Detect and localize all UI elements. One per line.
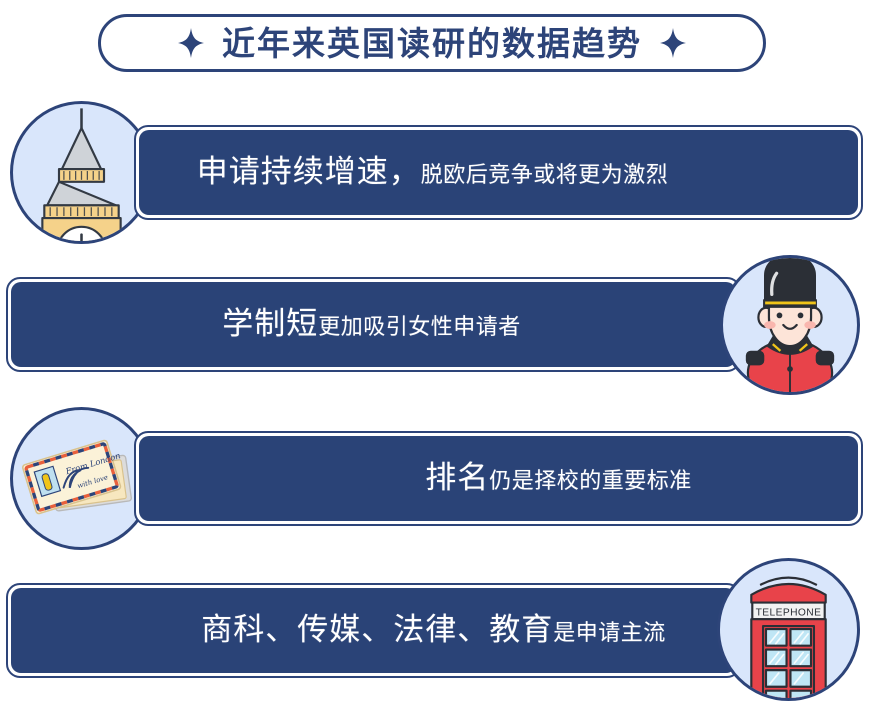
bar-applications: 申请持续增速， 脱欧后竞争或将更为激烈 (134, 125, 863, 220)
royal-guard-icon (720, 255, 860, 395)
big-ben-icon (10, 101, 153, 244)
bar-inner: 学制短 更加吸引女性申请者 (11, 282, 736, 367)
row-subline: 脱欧后竞争或将更为激烈 (421, 165, 669, 187)
row-headline: 排名 (425, 463, 489, 494)
airmail-letters-icon: From London with love (10, 407, 153, 550)
telephone-sign-text: TELEPHONE (756, 607, 822, 618)
bar-text: 排名 仍是择校的重要标准 (425, 463, 692, 494)
bar-inner: 申请持续增速， 脱欧后竞争或将更为激烈 (139, 130, 858, 215)
row-headline: 学制短 (222, 309, 318, 340)
bar-text: 商科、传媒、法律、教育 是申请主流 (201, 615, 666, 646)
sparkle-icon (660, 28, 686, 58)
row-subline: 仍是择校的重要标准 (489, 471, 692, 493)
row-subline: 更加吸引女性申请者 (318, 317, 521, 339)
bar-majors: 商科、传媒、法律、教育 是申请主流 (6, 583, 741, 678)
page-title: 近年来英国读研的数据趋势 (222, 27, 642, 60)
row-majors: 商科、传媒、法律、教育 是申请主流 (0, 556, 870, 699)
bar-text: 申请持续增速， 脱欧后竞争或将更为激烈 (197, 157, 669, 188)
bar-text: 学制短 更加吸引女性申请者 (222, 309, 521, 340)
infographic-root: 近年来英国读研的数据趋势 (0, 0, 870, 699)
bar-inner: 排名 仍是择校的重要标准 (139, 436, 858, 521)
row-headline: 商科、传媒、法律、教育 (201, 615, 553, 646)
bar-inner: 商科、传媒、法律、教育 是申请主流 (11, 588, 736, 673)
row-subline: 是申请主流 (553, 623, 666, 645)
row-ranking: From London with love 排名 仍是择校的重要标准 (0, 404, 870, 552)
telephone-box-icon: TELEPHONE (717, 558, 860, 701)
row-headline: 申请持续增速， (197, 157, 421, 188)
row-applications: 申请持续增速， 脱欧后竞争或将更为激烈 (0, 98, 870, 246)
bar-ranking: 排名 仍是择校的重要标准 (134, 431, 863, 526)
sparkle-icon (178, 28, 204, 58)
page-title-banner: 近年来英国读研的数据趋势 (98, 14, 766, 72)
row-program-length: 学制短 更加吸引女性申请者 (0, 250, 870, 398)
bar-program-length: 学制短 更加吸引女性申请者 (6, 277, 741, 372)
